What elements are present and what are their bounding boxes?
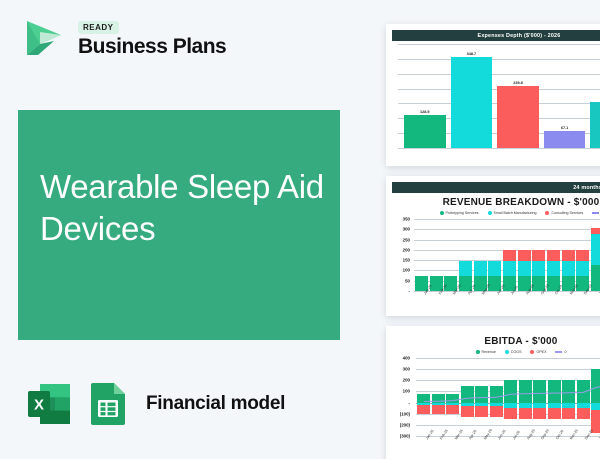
bar (451, 57, 493, 148)
legend-item: 0 (555, 350, 566, 354)
x-axis-revenue: Jan-26Feb-26Mar-26Apr-26May-26Jun-26Jul-… (392, 291, 600, 313)
bar-segment-revenue (533, 380, 546, 403)
bar-segment (547, 261, 560, 275)
bar-column (488, 219, 501, 291)
bar-series-expenses: 128.9348.7239.867.1176.5 (404, 44, 600, 148)
bar-segment-negative (475, 406, 488, 417)
bar-segment-negative (504, 408, 517, 420)
legend-item: Small Batch Manufacturing (488, 211, 537, 215)
bar-column (432, 358, 445, 436)
bar-segment-negative (490, 406, 503, 417)
chart-card-ebitda: EBITDA - $'000 RevenueCOGSOPEX0 40030020… (386, 326, 600, 459)
chart-card-expenses: Expenses Depth ($'000) - 2026 128.9348.7… (386, 24, 600, 166)
chart-title-ebitda: EBITDA - $'000 (392, 336, 600, 347)
plot-revenue: 35030025020015010050- Jan-26Feb-26Mar-26… (392, 219, 600, 291)
google-sheets-icon (80, 378, 132, 430)
legend-swatch (545, 211, 549, 215)
bar-column (533, 358, 546, 436)
bar-segment-revenue (504, 380, 517, 403)
legend-label: OPEX (536, 350, 546, 354)
bar-segment (503, 261, 516, 275)
bar (544, 131, 586, 148)
legend-swatch (488, 211, 492, 215)
legend-item: Revenue (476, 350, 496, 354)
bar-column (417, 358, 430, 436)
bar-column (459, 219, 472, 291)
legend-item: - (592, 211, 600, 215)
bar-column (591, 219, 600, 291)
y-tick: 100 (403, 268, 410, 273)
chart-card-revenue: 24 months REVENUE BREAKDOWN - $'000 Prot… (386, 176, 600, 316)
y-tick: (100) (400, 411, 410, 416)
bar-segment (591, 265, 600, 291)
y-tick: 300 (403, 367, 410, 372)
bar-segment-negative (533, 408, 546, 420)
y-tick: 250 (403, 237, 410, 242)
bar-column (475, 358, 488, 436)
y-tick: 350 (403, 217, 410, 222)
y-tick: 200 (403, 378, 410, 383)
hero-panel: Wearable Sleep Aid Devices (18, 110, 340, 340)
bar-series-revenue (415, 219, 600, 291)
bar-segment (532, 261, 545, 275)
svg-text:X: X (34, 397, 44, 414)
legend-swatch (440, 211, 444, 215)
chart-banner-revenue: 24 months (392, 182, 600, 193)
page-title: Wearable Sleep Aid Devices (40, 166, 330, 249)
bar-segment-negative (548, 408, 561, 420)
bar-segment (576, 250, 589, 261)
legend-item: COGS (505, 350, 522, 354)
bar-column (562, 219, 575, 291)
chart-title-revenue: REVENUE BREAKDOWN - $'000 (392, 197, 600, 208)
bar-column (490, 358, 503, 436)
y-tick: (200) (400, 422, 410, 427)
bar-segment-negative (577, 408, 590, 420)
bar-segment (547, 250, 560, 261)
brand-logo-block: READY Business Plans (20, 14, 226, 62)
legend-label: Revenue (482, 350, 496, 354)
bar-value-label: 128.9 (420, 110, 430, 114)
bar-segment-negative (591, 403, 600, 411)
plot-ebitda: 400300200100-(100)(200)(300) Jan-26Feb-2… (392, 358, 600, 436)
y-tick: - (409, 400, 410, 405)
bar-segment-negative (446, 405, 459, 414)
file-format-block: X Financial model (24, 378, 285, 430)
bar-segment (576, 261, 589, 275)
brand-text-block: READY Business Plans (78, 17, 226, 58)
bar-segment (591, 234, 600, 265)
legend-label: COGS (511, 350, 522, 354)
y-axis-ebitda: 400300200100-(100)(200)(300) (392, 358, 412, 436)
bar-segment-revenue (432, 394, 445, 402)
bar (404, 115, 446, 149)
y-axis-revenue: 35030025020015010050- (392, 219, 412, 291)
y-tick: 100 (403, 389, 410, 394)
bar-segment (518, 250, 531, 261)
file-format-label: Financial model (146, 393, 285, 415)
bar-segment-negative (432, 405, 445, 414)
bar-column (548, 358, 561, 436)
bar-value-label: 67.1 (561, 126, 568, 130)
bar-column (518, 219, 531, 291)
bar-column (461, 358, 474, 436)
bar-segment-revenue (446, 394, 459, 402)
bar-segment (532, 250, 545, 261)
bar-column (576, 219, 589, 291)
bar-column: 348.7 (451, 44, 493, 148)
bar-segment-revenue (461, 386, 474, 402)
chart-banner-expenses: Expenses Depth ($'000) - 2026 (392, 30, 600, 41)
legend-swatch (505, 350, 509, 354)
bar-segment (562, 261, 575, 275)
legend-label: 0 (564, 350, 566, 354)
bar-segment (474, 261, 487, 275)
bar-segment-negative (417, 405, 430, 414)
legend-swatch (476, 350, 480, 354)
bar-series-ebitda (417, 358, 600, 436)
bar-segment-revenue (417, 394, 430, 402)
bar-column (562, 358, 575, 436)
bar-segment-negative (519, 408, 532, 420)
bar (497, 86, 539, 148)
bar-segment-revenue (577, 380, 590, 403)
legend-swatch (592, 212, 599, 213)
bar-segment-revenue (562, 380, 575, 403)
bar-column (430, 219, 443, 291)
bar-column (591, 358, 600, 436)
legend-item: OPEX (530, 350, 546, 354)
legend-label: Small Batch Manufacturing (494, 211, 537, 215)
bar-segment-revenue (591, 369, 600, 403)
brand-name: Business Plans (78, 36, 226, 58)
bar-segment-revenue (475, 386, 488, 402)
legend-swatch (530, 350, 534, 354)
bar-value-label: 239.8 (513, 81, 523, 85)
bar-column (415, 219, 428, 291)
excel-icon: X (24, 378, 76, 430)
gridline (398, 148, 600, 149)
legend-item: Prototyping Services (440, 211, 479, 215)
bar-column: 239.8 (497, 44, 539, 148)
bar-segment (488, 261, 501, 275)
bar-segment-revenue (548, 380, 561, 403)
bar-segment-revenue (490, 386, 503, 402)
bar-column (474, 219, 487, 291)
bar-column (519, 358, 532, 436)
legend-label: Consulting Services (551, 211, 583, 215)
y-tick: 400 (403, 356, 410, 361)
y-tick: 150 (403, 258, 410, 263)
bar-column (444, 219, 457, 291)
bar-segment (503, 250, 516, 261)
bar-column (503, 219, 516, 291)
bar-column (547, 219, 560, 291)
bar-column: 128.9 (404, 44, 446, 148)
plot-expenses: 128.9348.7239.867.1176.5 (398, 44, 600, 148)
bar-segment-revenue (519, 380, 532, 403)
chart-legend-ebitda: RevenueCOGSOPEX0 (392, 350, 600, 354)
bar-value-label: 348.7 (467, 52, 477, 56)
bar-column (504, 358, 517, 436)
bar-column: 67.1 (544, 44, 586, 148)
y-tick: 300 (403, 227, 410, 232)
bar-segment (562, 250, 575, 261)
bar-column (446, 358, 459, 436)
bar-segment-negative (461, 406, 474, 417)
y-tick: 50 (405, 278, 410, 283)
bar-column (532, 219, 545, 291)
bar (590, 102, 600, 148)
legend-item: Consulting Services (545, 211, 583, 215)
bar-segment (459, 261, 472, 275)
x-axis-ebitda: Jan-26Feb-26Mar-26Apr-26May-26Jun-26Jul-… (392, 436, 600, 458)
bar-column (577, 358, 590, 436)
ready-badge: READY (78, 21, 119, 34)
bar-column: 176.5 (590, 44, 600, 148)
bar-segment (518, 261, 531, 275)
y-tick: 200 (403, 247, 410, 252)
legend-swatch (555, 351, 562, 352)
chart-legend-revenue: Prototyping ServicesSmall Batch Manufact… (392, 211, 600, 215)
green-play-mark-icon (20, 14, 68, 62)
legend-label: Prototyping Services (446, 211, 479, 215)
bar-segment-negative (562, 408, 575, 420)
